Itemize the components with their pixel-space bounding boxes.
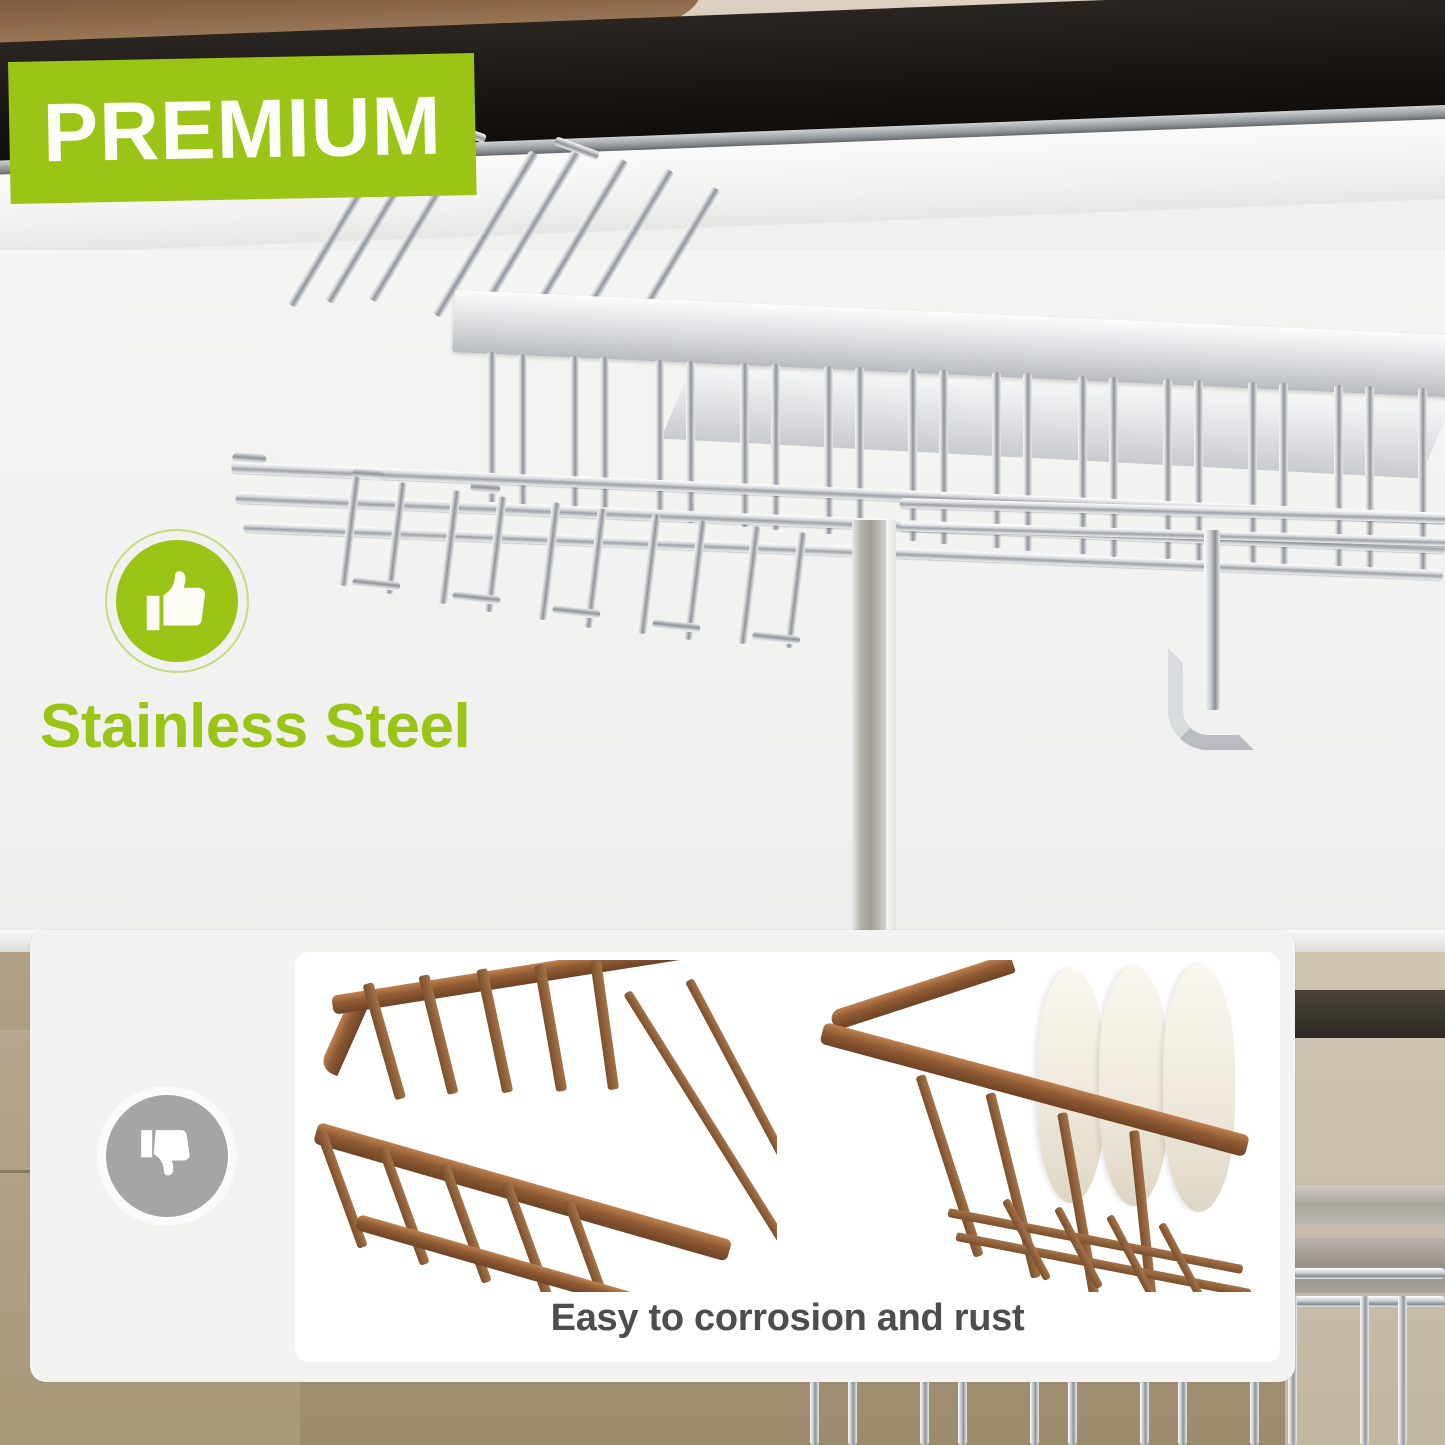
cage-bar	[992, 372, 1001, 548]
premium-badge: PREMIUM	[8, 53, 477, 204]
feature-label: Stainless Steel	[40, 694, 510, 759]
comparison-caption: Easy to corrosion and rust	[295, 1297, 1280, 1340]
cage-bar	[570, 356, 579, 512]
rust-top-rail	[829, 960, 1016, 1031]
cage-bar	[824, 366, 833, 534]
photo-row	[295, 952, 1280, 1292]
cage-bar	[771, 364, 780, 530]
rack2-bar	[1398, 1296, 1407, 1445]
rust-strut	[915, 1074, 983, 1258]
rust-strut	[534, 964, 567, 1092]
premium-badge-label: PREMIUM	[42, 83, 442, 174]
rack2-bar	[1360, 1296, 1369, 1445]
cage-bar	[939, 370, 948, 544]
comparison-photo-panel: Easy to corrosion and rust	[295, 952, 1280, 1362]
rack-hook-curve	[1168, 648, 1254, 750]
plate	[1163, 964, 1235, 1212]
rusty-wire-basket-closeup	[301, 960, 777, 1292]
rack-post-edge	[886, 520, 896, 932]
cage-bar	[600, 357, 609, 515]
feature-block-stainless-steel: Stainless Steel	[40, 540, 510, 759]
rusty-rack-with-plates	[799, 960, 1275, 1292]
slot-bar	[637, 514, 661, 634]
rail-end-cap	[470, 482, 501, 494]
cage-bar	[908, 369, 917, 541]
rust-strut	[590, 960, 619, 1090]
cage-bar	[740, 363, 749, 527]
cage-bar	[686, 361, 695, 523]
cage-bar	[655, 360, 664, 520]
rust-grid-cross	[1001, 1198, 1050, 1281]
product-infographic: PREMIUM Stainless Steel	[0, 0, 1445, 1445]
thumbs-up-icon	[116, 540, 238, 662]
rack-support-post	[852, 520, 886, 932]
slot-bar	[538, 502, 561, 620]
thumbs-down-icon	[106, 1095, 228, 1217]
rust-diagonal	[623, 990, 776, 1249]
cage-bar	[855, 367, 864, 537]
